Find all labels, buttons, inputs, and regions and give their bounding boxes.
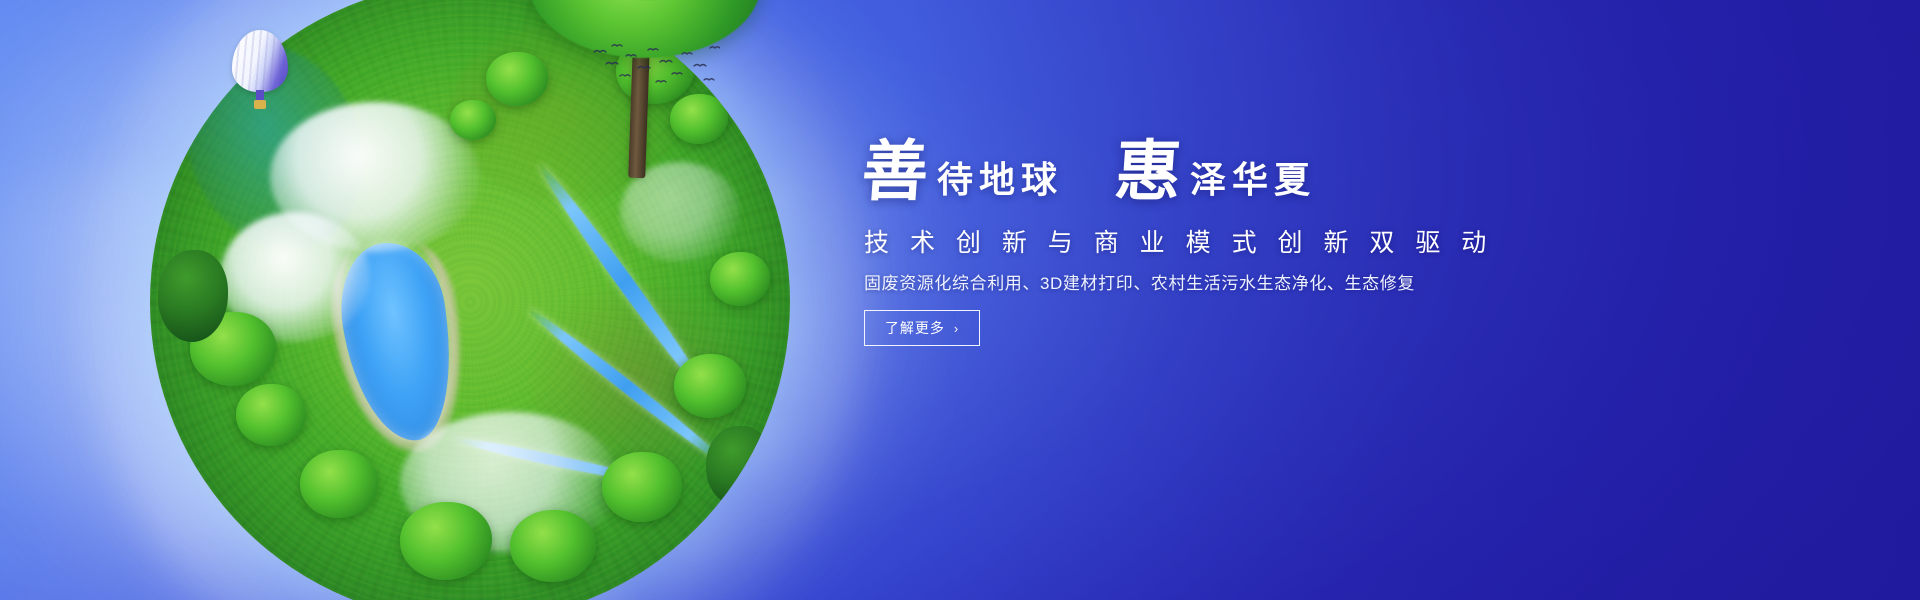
headline-char-2: 惠	[1113, 140, 1185, 206]
headline-text-2: 泽华夏	[1190, 160, 1316, 206]
banner-description: 固废资源化综合利用、3D建材打印、农村生活污水生态净化、生态修复	[864, 272, 1415, 296]
balloon-basket	[254, 100, 266, 109]
page-title: 善 待地球 惠 泽华夏	[862, 140, 1382, 214]
tree-canopy	[236, 384, 306, 446]
banner-subtitle: 技 术 创 新 与 商 业 模 式 创 新 双 驱 动	[864, 228, 1493, 258]
tree-canopy	[674, 354, 746, 418]
hero-banner: 善 待地球 惠 泽华夏 技 术 创 新 与 商 业 模 式 创 新 双 驱 动 …	[0, 0, 1920, 600]
tree-canopy	[300, 450, 378, 518]
tree-canopy	[400, 502, 492, 580]
tree-canopy	[602, 452, 682, 522]
balloon-envelope	[232, 30, 288, 92]
bird-flock-icon	[590, 42, 720, 90]
learn-more-button[interactable]: 了解更多 ›	[864, 310, 980, 346]
banner-content: 善 待地球 惠 泽华夏 技 术 创 新 与 商 业 模 式 创 新 双 驱 动 …	[862, 0, 1842, 600]
balloon-neck	[256, 90, 264, 100]
hot-air-balloon-icon	[232, 30, 288, 122]
hero-tree-icon	[535, 0, 755, 196]
headline-char-1: 善	[860, 140, 932, 206]
headline-text-1: 待地球	[937, 160, 1063, 206]
tree-canopy	[510, 510, 596, 582]
tree-canopy	[450, 100, 496, 140]
chevron-right-icon: ›	[954, 322, 959, 335]
learn-more-label: 了解更多	[885, 318, 945, 338]
tree-canopy	[710, 252, 770, 306]
